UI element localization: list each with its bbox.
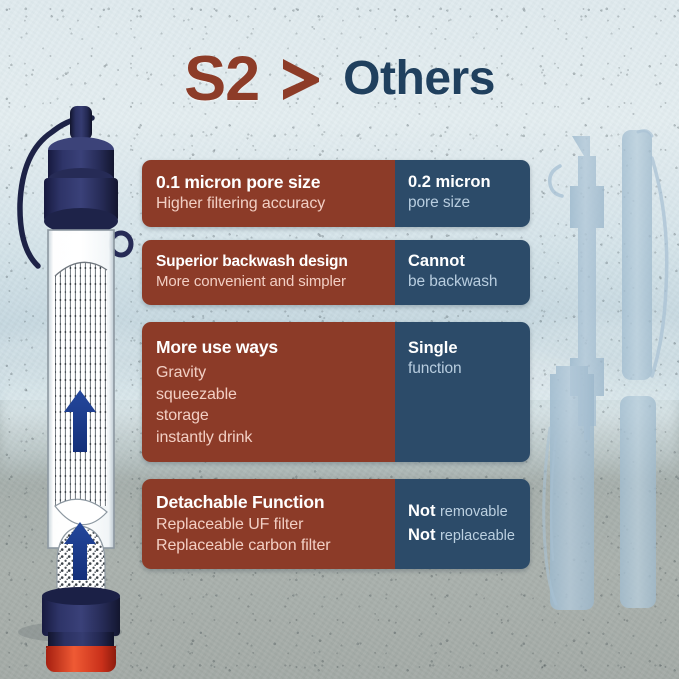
competitor-silhouettes-svg: [534, 118, 679, 648]
row-ours-pore-size: 0.1 micron pore size Higher filtering ac…: [142, 160, 395, 227]
comparison-row-use-ways[interactable]: More use ways Gravity squeezable storage…: [142, 322, 530, 462]
ours-detail: Replaceable carbon filter: [156, 535, 395, 556]
row-gap: [142, 462, 530, 479]
comparison-row-pore-size[interactable]: 0.1 micron pore size Higher filtering ac…: [142, 160, 530, 227]
title-competitor-name: Others: [343, 55, 495, 103]
ours-detail: Gravity: [156, 362, 395, 383]
theirs-mixed-line: Not replaceable: [408, 524, 530, 548]
title-product-name: S2: [184, 48, 259, 111]
water-filter-straw-cutaway: [8, 104, 138, 649]
ours-heading: More use ways: [156, 336, 395, 358]
theirs-heading: Single: [408, 338, 530, 359]
ours-heading: Detachable Function: [156, 491, 395, 513]
theirs-heading: 0.2 micron: [408, 172, 530, 193]
ghost-filter-bottom-right: [620, 396, 656, 608]
navy-base-top: [42, 587, 120, 605]
comparison-table: 0.1 micron pore size Higher filtering ac…: [142, 160, 530, 569]
theirs-strong: Not: [408, 526, 436, 544]
row-theirs-backwash: Cannot be backwash: [395, 240, 530, 305]
row-ours-backwash: Superior backwash design More convenient…: [142, 240, 395, 305]
row-gap: [142, 305, 530, 322]
page-title: S2 Others: [0, 43, 679, 115]
comparison-row-detachable[interactable]: Detachable Function Replaceable UF filte…: [142, 479, 530, 569]
theirs-detail: be backwash: [408, 272, 530, 293]
ours-heading: 0.1 micron pore size: [156, 171, 395, 193]
ours-heading: Superior backwash design: [156, 252, 395, 272]
row-ours-use-ways: More use ways Gravity squeezable storage…: [142, 322, 395, 462]
uf-hollow-fiber-membrane: [55, 262, 107, 506]
theirs-detail: function: [408, 359, 530, 380]
product-illustration-svg: [8, 104, 138, 649]
ours-detail: More convenient and simpler: [156, 272, 395, 292]
ours-detail: storage: [156, 405, 395, 426]
ghost-filter-straw-top-right: [622, 130, 667, 380]
row-theirs-pore-size: 0.2 micron pore size: [395, 160, 530, 227]
theirs-light: replaceable: [440, 528, 515, 544]
theirs-strong: Not: [408, 502, 436, 520]
theirs-heading: Cannot: [408, 251, 530, 272]
row-theirs-detachable: Not removable Not replaceable: [395, 479, 530, 569]
ours-detail: squeezable: [156, 384, 395, 405]
greater-than-icon: [279, 56, 323, 102]
ghost-filter-bottom-left: [544, 366, 594, 610]
theirs-mixed-line: Not removable: [408, 500, 530, 524]
red-end-cap: [46, 646, 116, 672]
row-theirs-use-ways: Single function: [395, 322, 530, 462]
ours-detail: Higher filtering accuracy: [156, 193, 395, 214]
theirs-light: removable: [440, 504, 508, 520]
row-ours-detachable: Detachable Function Replaceable UF filte…: [142, 479, 395, 569]
row-gap: [142, 227, 530, 240]
competitor-silhouette-group: [534, 118, 679, 648]
ours-detail: Replaceable UF filter: [156, 514, 395, 535]
ours-detail: instantly drink: [156, 427, 395, 448]
comparison-row-backwash[interactable]: Superior backwash design More convenient…: [142, 240, 530, 305]
theirs-detail: pore size: [408, 193, 530, 214]
